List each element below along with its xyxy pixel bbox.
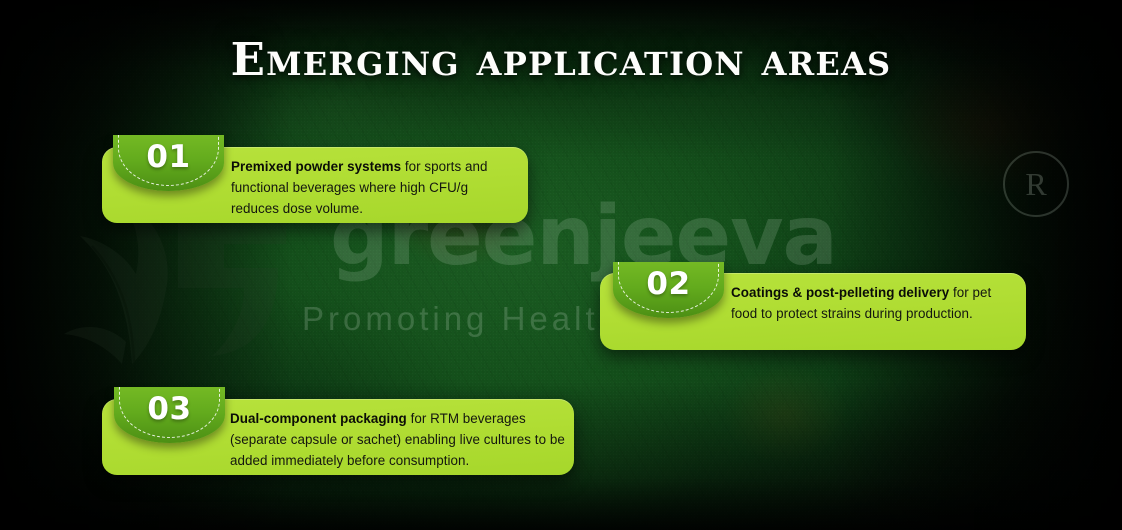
card-number-badge-1: 01 xyxy=(113,135,224,191)
application-card-3: 03 Dual-component packaging for RTM beve… xyxy=(102,399,574,475)
card-lead-1: Premixed powder systems xyxy=(231,159,401,174)
page-title: Emerging application areas xyxy=(0,36,1122,83)
card-number-badge-2: 02 xyxy=(613,262,724,318)
card-number-2: 02 xyxy=(613,269,724,300)
slide-canvas: greenjeeva Promoting Healthy Living R Em… xyxy=(0,0,1122,530)
card-number-1: 01 xyxy=(113,142,224,173)
card-text-3: Dual-component packaging for RTM beverag… xyxy=(230,409,570,471)
application-card-2: 02 Coatings & post-pelleting delivery fo… xyxy=(600,273,1026,350)
card-text-2: Coatings & post-pelleting delivery for p… xyxy=(731,283,1019,325)
card-text-1: Premixed powder systems for sports and f… xyxy=(231,157,516,219)
card-number-badge-3: 03 xyxy=(114,387,225,443)
card-lead-3: Dual-component packaging xyxy=(230,411,407,426)
card-lead-2: Coatings & post-pelleting delivery xyxy=(731,285,949,300)
card-number-3: 03 xyxy=(114,394,225,425)
application-card-1: 01 Premixed powder systems for sports an… xyxy=(102,147,528,223)
